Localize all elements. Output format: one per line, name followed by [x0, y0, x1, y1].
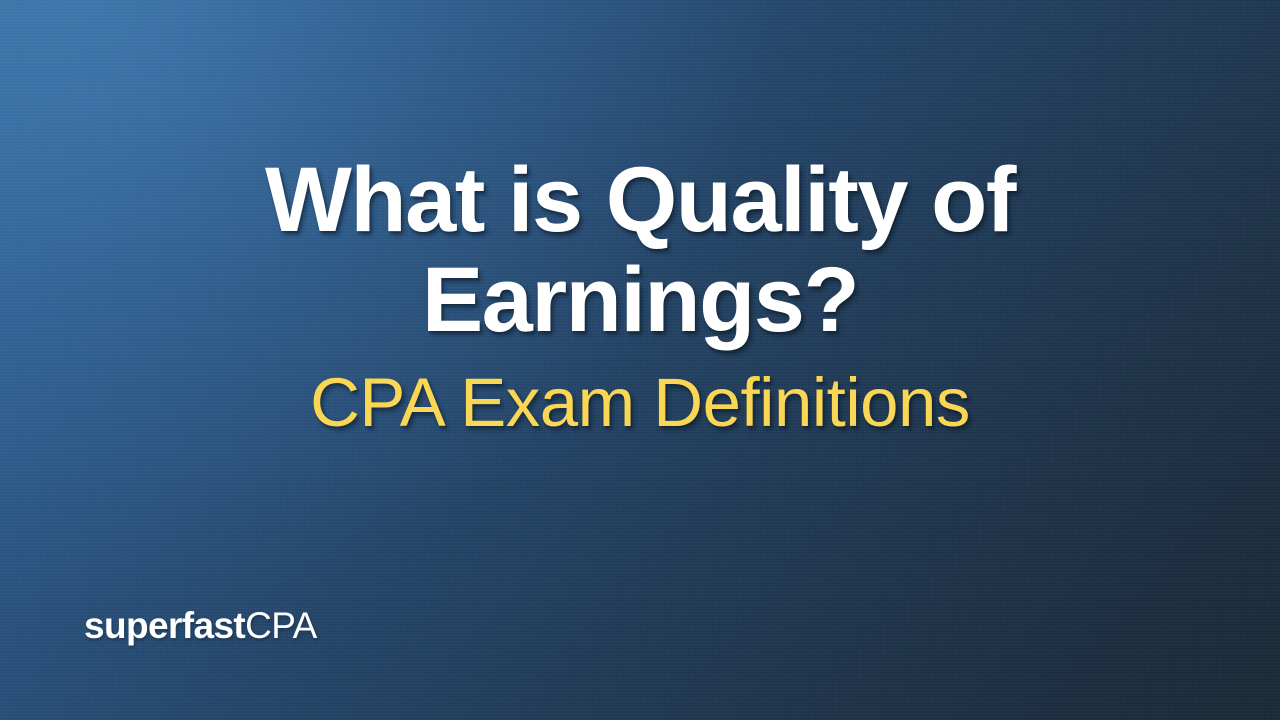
brand-logo-primary: superfast	[84, 605, 245, 646]
brand-logo-secondary: CPA	[245, 605, 317, 646]
page-subtitle: CPA Exam Definitions	[60, 365, 1220, 441]
page-title: What is Quality of Earnings?	[60, 150, 1220, 351]
title-text-block: What is Quality of Earnings? CPA Exam De…	[0, 150, 1280, 440]
brand-logo: superfastCPA	[84, 607, 317, 644]
title-slide: What is Quality of Earnings? CPA Exam De…	[0, 0, 1280, 720]
page-title-line-2: Earnings?	[60, 250, 1220, 350]
page-title-line-1: What is Quality of	[60, 150, 1220, 250]
